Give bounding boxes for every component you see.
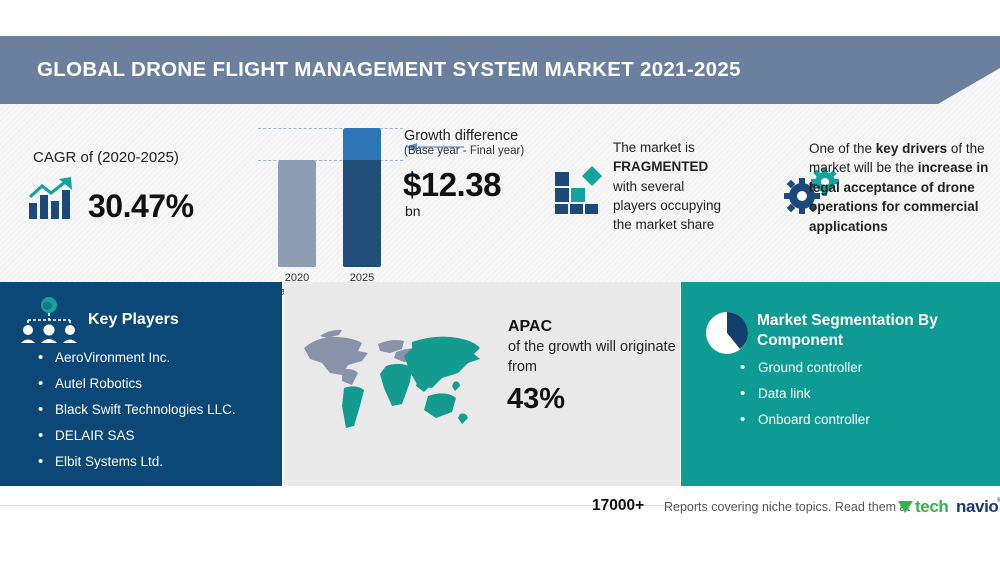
list-item: DELAIR SAS: [38, 428, 278, 443]
fragmented-line1: The market is: [613, 140, 695, 155]
logo-text-tech: tech: [915, 497, 948, 517]
list-item: Autel Robotics: [38, 376, 278, 391]
bar-2025: [343, 128, 381, 267]
pie-chart-icon: [704, 310, 750, 356]
growth-difference-value: $12.38: [403, 166, 501, 204]
footer-report-count: 17000+: [592, 497, 644, 515]
world-map: [300, 322, 510, 452]
key-players-list: AeroVironment Inc. Autel Robotics Black …: [38, 350, 278, 480]
footer-text: Reports covering niche topics. Read them…: [664, 500, 910, 514]
key-drivers-emphasis-1: key drivers: [876, 141, 947, 156]
region-subtitle: of the growth will originate from: [508, 337, 678, 377]
list-item: Data link: [740, 386, 990, 401]
fragmented-text: The market is FRAGMENTED with several pl…: [613, 138, 743, 234]
logo-text-navio: navio: [956, 497, 998, 517]
page-title: GLOBAL DRONE FLIGHT MANAGEMENT SYSTEM MA…: [37, 58, 741, 82]
segmentation-list: Ground controller Data link Onboard cont…: [740, 360, 990, 438]
org-network-globe-icon: [18, 297, 80, 343]
fragmented-line2: with several: [613, 179, 684, 194]
bar-2020: [278, 160, 316, 267]
segmentation-title: Market Segmentation By Component: [757, 311, 957, 350]
growth-difference-unit: bn: [405, 203, 421, 219]
list-item: Elbit Systems Ltd.: [38, 454, 278, 469]
key-players-title: Key Players: [88, 311, 179, 329]
infographic-page: GLOBAL DRONE FLIGHT MANAGEMENT SYSTEM MA…: [0, 0, 1000, 562]
bar-chart-growth-icon: [26, 177, 78, 223]
fragmented-emphasis: FRAGMENTED: [613, 159, 708, 174]
list-item: Onboard controller: [740, 412, 990, 427]
list-item: Ground controller: [740, 360, 990, 375]
growth-difference-title: Growth difference: [404, 128, 518, 144]
list-item: Black Swift Technologies LLC.: [38, 402, 278, 417]
technavio-arrow-icon: [898, 500, 913, 514]
bar-2025-growth-segment: [343, 128, 381, 160]
cagr-label: CAGR of (2020-2025): [33, 149, 179, 166]
key-drivers-text: One of the key drivers of the market wil…: [809, 139, 989, 236]
cagr-value: 30.47%: [88, 188, 194, 225]
squares-pattern-icon: [554, 164, 606, 214]
key-drivers-line1: One of the: [809, 141, 876, 156]
footer-divider: [0, 505, 690, 506]
fragmented-line4: the market share: [613, 217, 714, 232]
growth-difference-subtitle: (Base year - Final year): [404, 145, 524, 157]
list-item: AeroVironment Inc.: [38, 350, 278, 365]
region-title: APAC: [508, 318, 552, 336]
technavio-logo[interactable]: tech navio ®: [898, 497, 994, 519]
fragmented-line3: players occupying: [613, 198, 721, 213]
region-value: 43%: [507, 383, 565, 416]
growth-bar-chart: 2020 Base Year 2025 Final Year: [258, 118, 403, 253]
